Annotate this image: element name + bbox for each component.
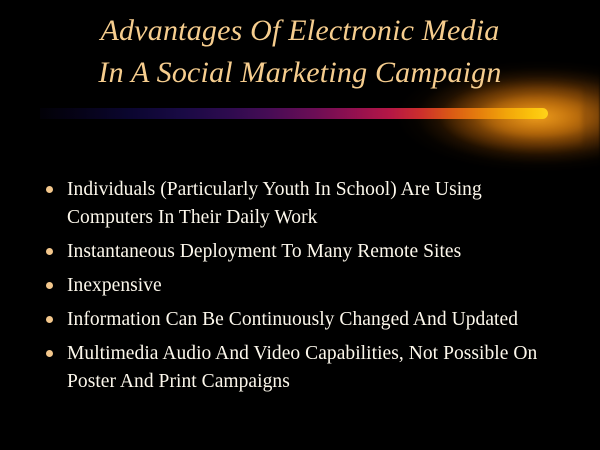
list-item: Instantaneous Deployment To Many Remote … xyxy=(40,238,570,266)
presentation-slide: Advantages Of Electronic Media In A Soci… xyxy=(0,0,600,450)
slide-title: Advantages Of Electronic Media In A Soci… xyxy=(0,10,600,94)
divider-gradient-bar xyxy=(40,108,548,119)
bullet-dot-icon xyxy=(46,316,53,323)
list-item-label: Instantaneous Deployment To Many Remote … xyxy=(67,238,570,266)
list-item-label: Information Can Be Continuously Changed … xyxy=(67,306,570,334)
slide-title-line-1: Advantages Of Electronic Media xyxy=(0,10,600,52)
list-item-label: Inexpensive xyxy=(67,272,570,300)
list-item: Multimedia Audio And Video Capabilities,… xyxy=(40,340,570,396)
list-item: Individuals (Particularly Youth In Schoo… xyxy=(40,176,570,232)
bullet-dot-icon xyxy=(46,248,53,255)
list-item-label: Multimedia Audio And Video Capabilities,… xyxy=(67,340,570,396)
list-item: Information Can Be Continuously Changed … xyxy=(40,306,570,334)
bullet-dot-icon xyxy=(46,282,53,289)
slide-bullet-list: Individuals (Particularly Youth In Schoo… xyxy=(40,176,570,402)
list-item: Inexpensive xyxy=(40,272,570,300)
bullet-dot-icon xyxy=(46,350,53,357)
list-item-label: Individuals (Particularly Youth In Schoo… xyxy=(67,176,570,232)
bullet-dot-icon xyxy=(46,186,53,193)
slide-title-line-2: In A Social Marketing Campaign xyxy=(0,52,600,94)
